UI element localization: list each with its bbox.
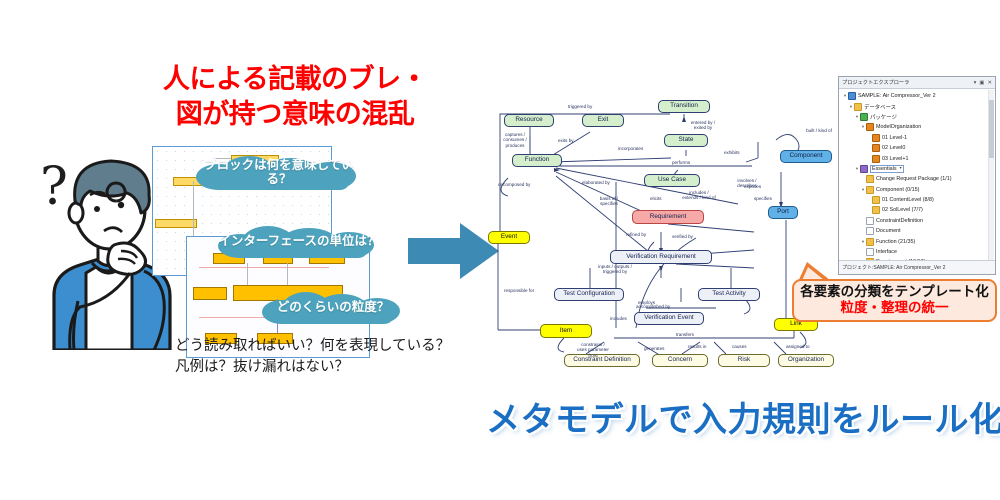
edge-label: refined by bbox=[626, 232, 646, 237]
edge-label: results in bbox=[688, 344, 706, 349]
organization-icon bbox=[866, 123, 874, 131]
node-requirement[interactable]: Requirement bbox=[632, 210, 704, 224]
node-usecase[interactable]: Use Case bbox=[644, 174, 700, 187]
callout-cloud-1: ブロックは何を意味している？ bbox=[196, 156, 362, 190]
tree-item-essentials[interactable]: ▾ Essentials bbox=[839, 164, 995, 174]
node-risk[interactable]: Risk bbox=[718, 354, 770, 367]
node-exit[interactable]: Exit bbox=[582, 114, 624, 127]
document-icon bbox=[866, 227, 874, 235]
cloud-label: ブロックは何を意味している？ bbox=[196, 159, 362, 187]
tree-item-label: データベース bbox=[864, 103, 896, 111]
tree-item-label[interactable]: Essentials bbox=[870, 165, 904, 173]
tree-item[interactable]: ▾ ModelOrganization bbox=[839, 122, 995, 132]
level-icon bbox=[872, 155, 880, 163]
edge-label: decomposed by bbox=[498, 182, 530, 187]
maximize-icon[interactable]: ▣ bbox=[979, 80, 984, 86]
tree-item[interactable]: ▾ Function (21/35) bbox=[839, 236, 995, 246]
node-event[interactable]: Event bbox=[488, 231, 530, 244]
node-component[interactable]: Component bbox=[780, 150, 832, 163]
tree-item-label: ModelOrganization bbox=[876, 124, 921, 130]
tree-item[interactable]: ▾ SAMPLE: Air Compressor_Ver 2 bbox=[839, 91, 995, 101]
node-concern[interactable]: Concern bbox=[652, 354, 708, 367]
tree-item-label: Document bbox=[876, 228, 901, 234]
cloud-label: どのくらいの粒度？ bbox=[277, 301, 390, 315]
node-test-activity[interactable]: Test Activity bbox=[698, 288, 760, 301]
folder-icon bbox=[866, 186, 874, 194]
folder-icon bbox=[872, 196, 880, 204]
level-icon bbox=[872, 144, 880, 152]
minimize-icon[interactable]: ▾ bbox=[974, 80, 977, 86]
tree-item[interactable]: 01 ContentLevel (8/8) bbox=[839, 195, 995, 205]
folder-icon bbox=[854, 103, 862, 111]
edge-label: entered by / exited by bbox=[686, 120, 720, 131]
page-title-line2: 図が持つ意味の混乱 bbox=[140, 97, 450, 132]
tree-item[interactable]: ▾ Component (0/15) bbox=[839, 185, 995, 195]
edge-label: performs bbox=[672, 160, 690, 165]
tree-item-label: パッケージ bbox=[870, 113, 897, 121]
node-test-configuration[interactable]: Test Configuration bbox=[554, 288, 624, 301]
edge-label: exposes bbox=[744, 184, 761, 189]
edge-label: specifies bbox=[754, 196, 772, 201]
diagram-link bbox=[247, 263, 248, 285]
node-verification-event[interactable]: Verification Event bbox=[634, 312, 704, 325]
edge-label: assigned to bbox=[786, 344, 810, 349]
node-port[interactable]: Port bbox=[768, 206, 798, 219]
node-transition[interactable]: Transition bbox=[658, 100, 710, 113]
tree-item[interactable]: 01 Level-1 bbox=[839, 133, 995, 143]
edge-label: captures / consumes / produces bbox=[498, 132, 532, 148]
tree-item[interactable]: ▾ パッケージ bbox=[839, 112, 995, 122]
folder-icon bbox=[866, 238, 874, 246]
callout-cloud-2: インターフェースの単位は？ bbox=[218, 226, 380, 258]
question-mark-icon: ? bbox=[40, 157, 68, 217]
edge-label: elicits bbox=[650, 196, 662, 201]
tree-item-label: Change Request Package (1/1) bbox=[876, 176, 952, 182]
close-icon[interactable]: ✕ bbox=[987, 80, 992, 86]
edge-label: constrains / uses parameter from bbox=[576, 342, 610, 358]
tree-item-label: 02 Level0 bbox=[882, 145, 905, 151]
node-state[interactable]: State bbox=[664, 134, 708, 147]
callout-line2: 粒度・整理の統一 bbox=[841, 300, 949, 316]
tree-item-label: Function (21/35) bbox=[876, 239, 915, 245]
slide-root: 人による記載のブレ・ 図が持つ意味の混乱 ? bbox=[0, 0, 1000, 500]
level-icon bbox=[872, 134, 880, 142]
edge-label: exits by bbox=[558, 138, 574, 143]
tree-item-label: 02 SolLevel (7/7) bbox=[882, 207, 923, 213]
edge-label: verified by bbox=[672, 234, 693, 239]
panel-title-bar: プロジェクトエクスプローラ ▾ ▣ ✕ bbox=[839, 77, 995, 89]
status-text: プロジェクト:SAMPLE: Air Compressor_Ver 2 bbox=[842, 264, 945, 271]
question-text: どう読み取ればいい？何を表現している？ 凡例は？抜け漏れはない？ bbox=[175, 336, 450, 378]
callout-line1: 各要素の分類をテンプレート化 bbox=[800, 285, 989, 300]
tree-list[interactable]: ▾ SAMPLE: Air Compressor_Ver 2 ▾ データベース … bbox=[839, 89, 995, 263]
tree-item-label: 03 Level+1 bbox=[882, 156, 909, 162]
edge-label: elaborated by bbox=[582, 180, 610, 185]
diagram-node bbox=[193, 287, 227, 300]
diagram-link bbox=[199, 267, 329, 268]
tree-item-label: 01 ContentLevel (8/8) bbox=[882, 197, 934, 203]
edge-label: includes bbox=[610, 316, 627, 321]
tree-item[interactable]: ConstraintDefinition bbox=[839, 216, 995, 226]
tree-item-label: Component (0/15) bbox=[876, 187, 919, 193]
edge-label: incorporates bbox=[618, 146, 643, 151]
tree-item[interactable]: Document bbox=[839, 226, 995, 236]
tree-item-label: 01 Level-1 bbox=[882, 135, 907, 141]
page-title-line1: 人による記載のブレ・ bbox=[140, 62, 450, 97]
edge-label: causes bbox=[732, 344, 747, 349]
tree-item[interactable]: Change Request Package (1/1) bbox=[839, 174, 995, 184]
status-bar: プロジェクト:SAMPLE: Air Compressor_Ver 2 bbox=[839, 260, 995, 274]
node-function[interactable]: Function bbox=[512, 154, 562, 167]
bottom-title: メタモデルで入力規則をルール化 bbox=[486, 392, 996, 441]
vertical-scrollbar[interactable] bbox=[988, 90, 994, 262]
folder-icon bbox=[866, 175, 874, 183]
folder-icon bbox=[872, 206, 880, 214]
node-resource[interactable]: Resource bbox=[504, 114, 554, 127]
tree-item-label: ConstraintDefinition bbox=[876, 218, 923, 224]
edge-label: generates bbox=[644, 346, 664, 351]
panel-title: プロジェクトエクスプローラ bbox=[842, 79, 971, 86]
tree-item[interactable]: ▾ データベース bbox=[839, 101, 995, 111]
edge-label: accomplished by bbox=[636, 304, 670, 309]
edge-label: exhibits bbox=[724, 150, 740, 155]
node-verification-requirement[interactable]: Verification Requirement bbox=[610, 250, 712, 264]
tree-item[interactable]: Interface bbox=[839, 247, 995, 257]
metamodel-edges bbox=[486, 92, 836, 382]
tree-item-label: Interface bbox=[876, 249, 897, 255]
question-line1: どう読み取ればいい？何を表現している？ bbox=[175, 336, 450, 357]
document-icon bbox=[866, 248, 874, 256]
edge-label: inputs / outputs / triggered by bbox=[598, 264, 632, 275]
tree-item[interactable]: 02 Level0 bbox=[839, 143, 995, 153]
essentials-icon bbox=[860, 165, 868, 173]
metamodel-diagram: Resource Exit Transition State Function … bbox=[486, 92, 836, 382]
document-icon bbox=[866, 217, 874, 225]
package-icon bbox=[860, 113, 868, 121]
tree-item[interactable]: 02 SolLevel (7/7) bbox=[839, 205, 995, 215]
project-icon bbox=[848, 92, 856, 100]
project-explorer-panel[interactable]: プロジェクトエクスプローラ ▾ ▣ ✕ ▾ SAMPLE: Air Compre… bbox=[838, 76, 996, 275]
page-title: 人による記載のブレ・ 図が持つ意味の混乱 bbox=[140, 62, 450, 131]
diagram-node bbox=[155, 219, 197, 228]
edge-label: basis of / specifies bbox=[592, 196, 626, 207]
callout-cloud-3: どのくらいの粒度？ bbox=[262, 292, 404, 324]
tree-item[interactable]: 03 Level+1 bbox=[839, 153, 995, 163]
edge-label: includes / extends / kind of bbox=[682, 190, 716, 201]
template-callout: 各要素の分類をテンプレート化 粒度・整理の統一 bbox=[792, 279, 997, 322]
diagram-link bbox=[193, 181, 194, 221]
cloud-label: インターフェースの単位は？ bbox=[218, 235, 379, 249]
node-item[interactable]: Item bbox=[540, 324, 592, 338]
edge-label: transfers bbox=[676, 332, 694, 337]
node-organization[interactable]: Organization bbox=[778, 354, 834, 367]
edge-label: responsible for bbox=[504, 288, 534, 293]
edge-label: built / kind of bbox=[802, 128, 836, 133]
edge-label: triggered by bbox=[568, 104, 592, 109]
tree-item-label: SAMPLE: Air Compressor_Ver 2 bbox=[858, 93, 936, 99]
question-line2: 凡例は？抜け漏れはない？ bbox=[175, 357, 450, 378]
diagram-link bbox=[287, 263, 288, 285]
